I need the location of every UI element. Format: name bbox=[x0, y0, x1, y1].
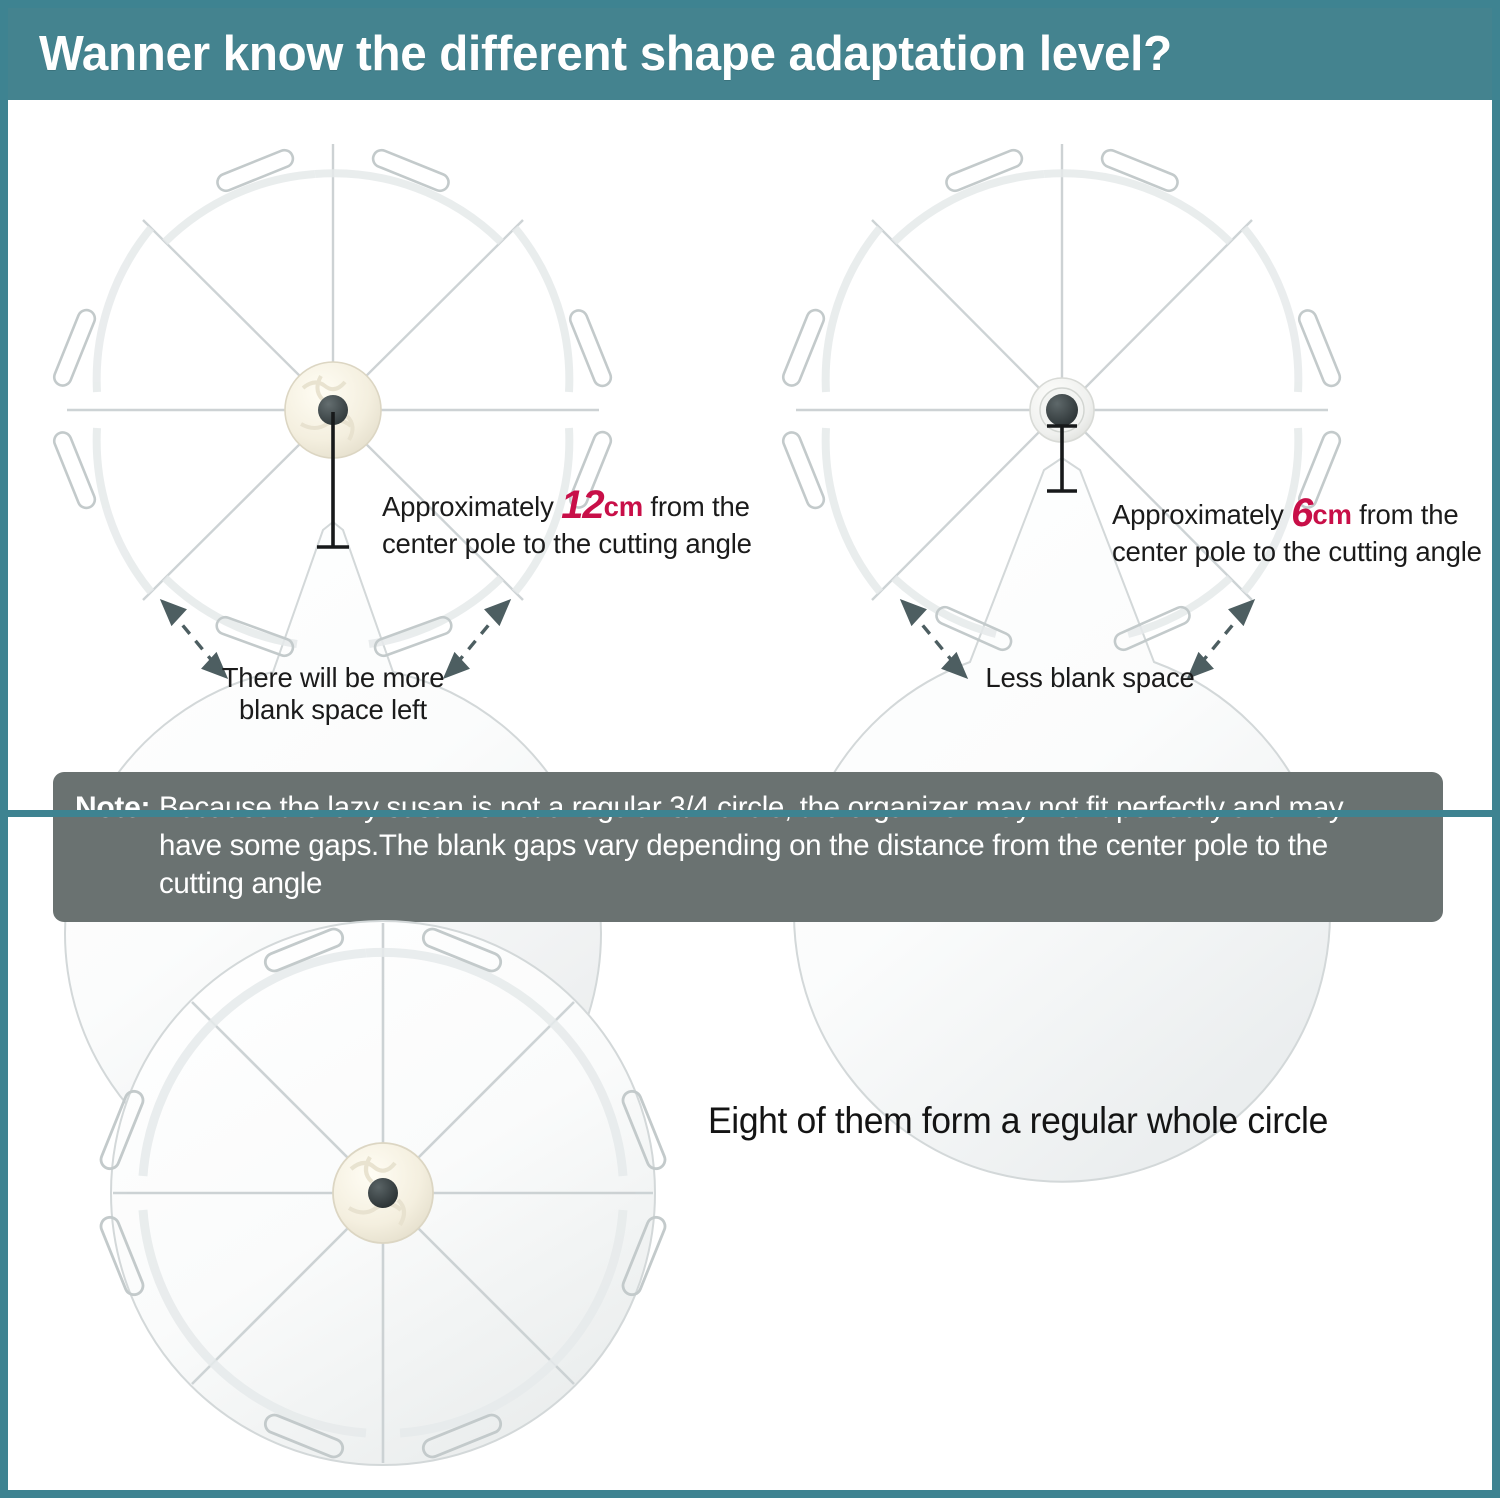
dim-prefix-12: Approximately bbox=[382, 491, 554, 522]
gap-caption-6-line1: Less blank space bbox=[930, 662, 1250, 694]
dim-value-12: 12 bbox=[561, 483, 604, 527]
dim-suffix1-6: from the bbox=[1359, 499, 1458, 530]
dim-suffix2-6: center pole to the cutting angle bbox=[1112, 536, 1482, 568]
dim-suffix2-12: center pole to the cutting angle bbox=[382, 528, 752, 560]
dimension-label-6cm: Approximately 6cm from the center pole t… bbox=[1112, 490, 1482, 568]
lazy-susan-image-full-circle bbox=[83, 905, 693, 1485]
full-circle-caption: Eight of them form a regular whole circl… bbox=[708, 1100, 1328, 1142]
lazy-susan-image-12cm bbox=[18, 110, 678, 700]
page-title: Wanner know the different shape adaptati… bbox=[8, 26, 1172, 82]
bottom-section: Eight of them form a regular whole circl… bbox=[8, 817, 1492, 1490]
dim-suffix1-12: from the bbox=[650, 491, 749, 522]
dim-unit-6: cm bbox=[1312, 499, 1351, 530]
gap-caption-6cm: Less blank space bbox=[930, 662, 1250, 694]
lazy-susan-image-6cm bbox=[742, 110, 1402, 700]
dim-value-6: 6 bbox=[1291, 491, 1312, 535]
header-banner: Wanner know the different shape adaptati… bbox=[8, 8, 1492, 100]
section-divider bbox=[8, 810, 1492, 817]
gap-caption-12-line2: blank space left bbox=[173, 694, 493, 726]
dimension-label-12cm: Approximately 12cm from the center pole … bbox=[382, 482, 752, 560]
infographic-page: Wanner know the different shape adaptati… bbox=[0, 0, 1500, 1498]
dim-unit-12: cm bbox=[604, 491, 643, 522]
gap-caption-12cm: There will be more blank space left bbox=[173, 662, 493, 727]
panel-6cm: Approximately 6cm from the center pole t… bbox=[750, 100, 1492, 720]
gap-caption-12-line1: There will be more bbox=[173, 662, 493, 694]
dim-prefix-6: Approximately bbox=[1112, 499, 1284, 530]
top-comparison-section: Approximately 12cm from the center pole … bbox=[8, 100, 1492, 810]
panel-12cm: Approximately 12cm from the center pole … bbox=[18, 100, 760, 720]
